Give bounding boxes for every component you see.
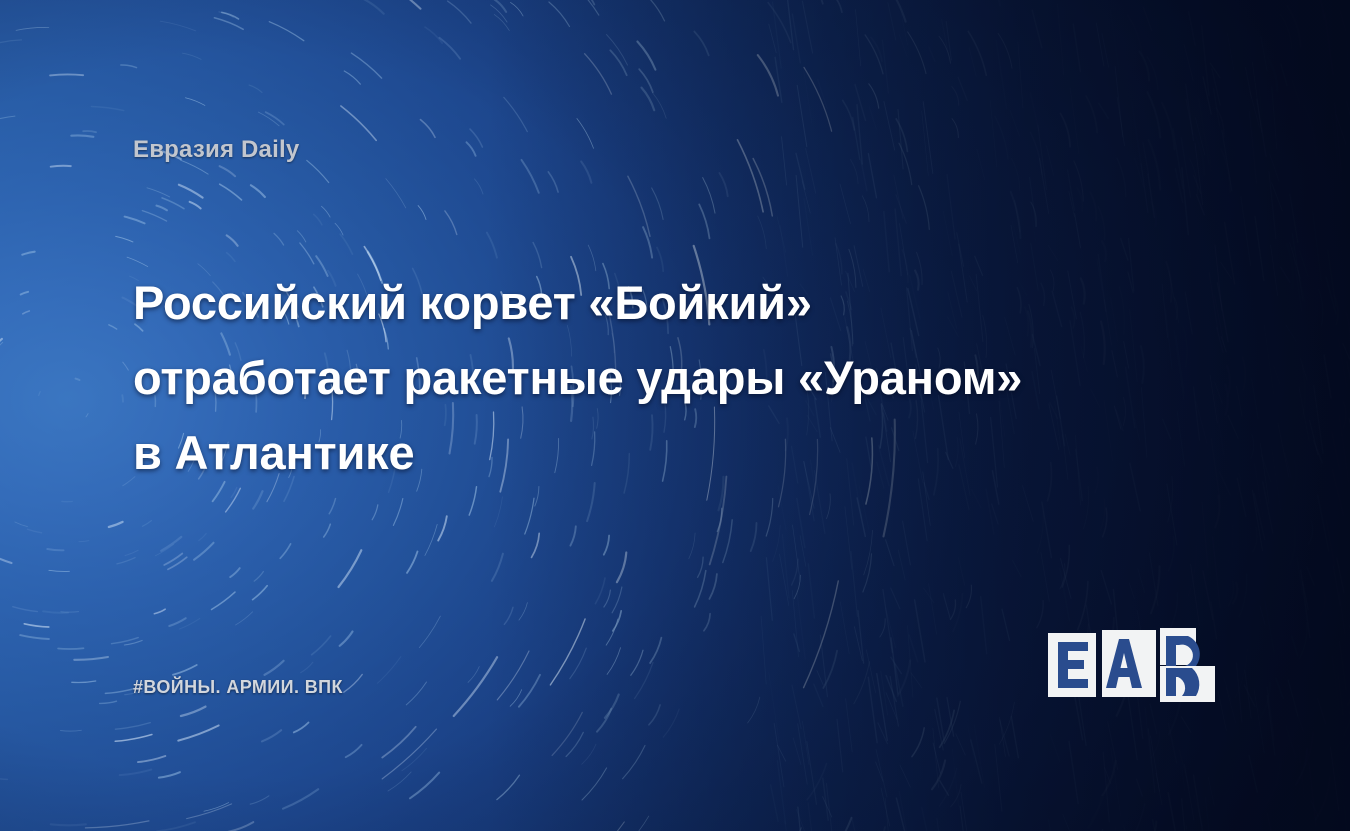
brand-name: Евразия Daily bbox=[133, 136, 299, 164]
social-share-card: Евразия Daily Российский корвет «Бойкий»… bbox=[0, 0, 1350, 831]
headline: Российский корвет «Бойкий» отработает ра… bbox=[133, 265, 1193, 490]
logo-letter-e bbox=[1058, 642, 1088, 688]
eadaily-logo bbox=[1046, 628, 1230, 702]
category-hashtag: #ВОЙНЫ. АРМИИ. ВПК bbox=[133, 677, 343, 698]
